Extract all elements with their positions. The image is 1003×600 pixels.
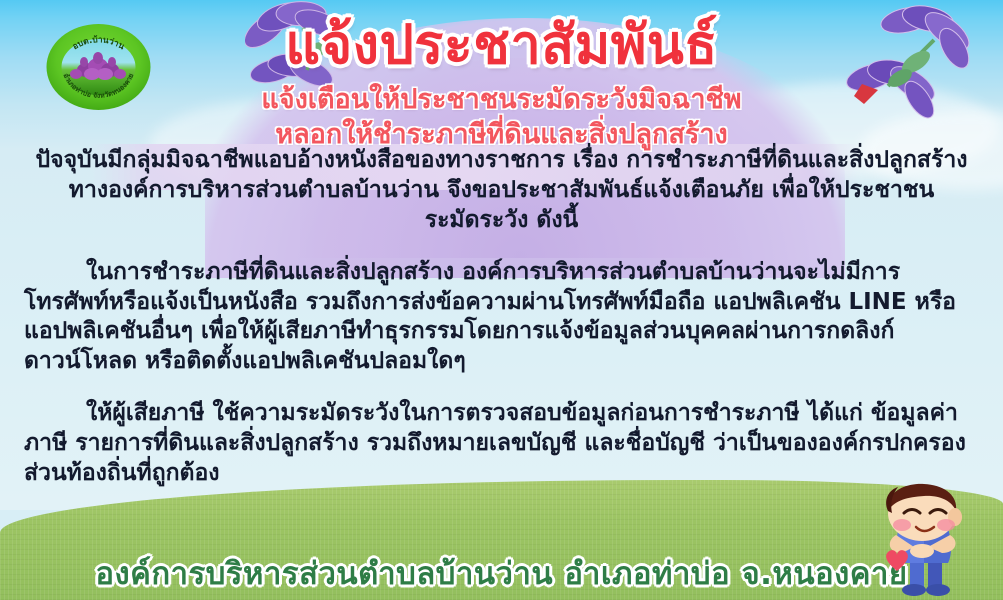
page-title: แจ้งประชาสัมพันธ์: [0, 18, 1003, 72]
announcement-poster: อบต.บ้านว่าน อำเภอท่าบ่อ จังหวัดหนองคาย: [0, 0, 1003, 600]
cartoon-boy-icon: [862, 483, 1002, 600]
subtitle: แจ้งเตือนให้ประชาชนระมัดระวังมิจฉาชีพ หล…: [0, 83, 1003, 152]
heart-icon: [884, 548, 910, 572]
paragraph-1: ปัจจุบันมีกลุ่มมิจฉาชีพแอบอ้างหนังสือของ…: [24, 146, 979, 236]
paragraph-3: ให้ผู้เสียภาษี ใช้ความระมัดระวังในการตรว…: [24, 399, 979, 489]
announcement-body: ปัจจุบันมีกลุ่มมิจฉาชีพแอบอ้างหนังสือของ…: [24, 146, 979, 489]
subtitle-line-1: แจ้งเตือนให้ประชาชนระมัดระวังมิจฉาชีพ: [0, 83, 1003, 118]
paragraph-2: ในการชำระภาษีที่ดินและสิ่งปลูกสร้าง องค์…: [24, 258, 979, 378]
organization-footer: องค์การบริหารส่วนตำบลบ้านว่าน อำเภอท่าบ่…: [0, 548, 1003, 598]
